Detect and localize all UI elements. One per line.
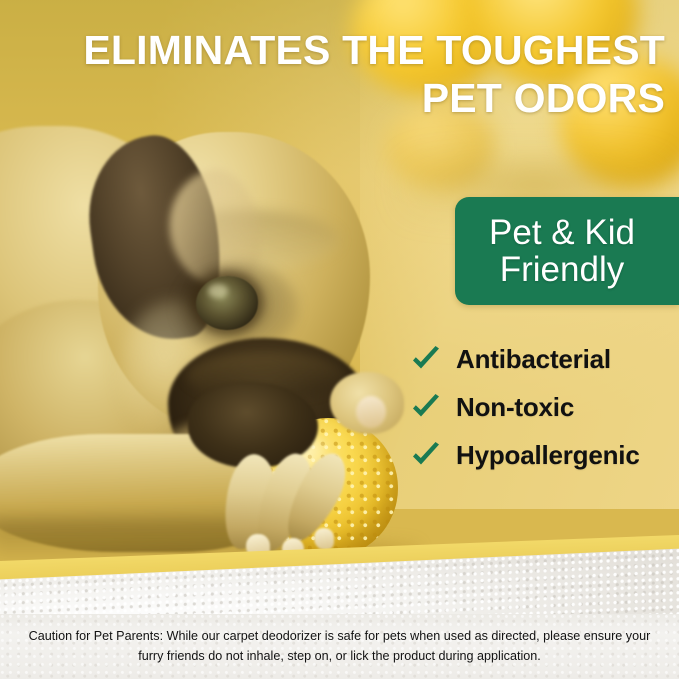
check-icon: [410, 439, 442, 471]
check-icon: [410, 343, 442, 375]
dog-toe-nail: [314, 528, 334, 550]
feature-list: Antibacterial Non-toxic Hypoallergenic: [410, 335, 673, 479]
caution-text: Caution for Pet Parents: While our carpe…: [0, 627, 679, 667]
status-badge: Pet & Kid Friendly: [455, 197, 679, 305]
dog-eye-shine: [208, 284, 228, 298]
list-item: Antibacterial: [410, 335, 673, 383]
dog-eye: [196, 276, 258, 330]
list-item: Hypoallergenic: [410, 431, 673, 479]
badge-label: Pet & Kid Friendly: [489, 214, 635, 288]
feature-label: Non-toxic: [456, 392, 574, 423]
list-item: Non-toxic: [410, 383, 673, 431]
marketing-banner: ELIMINATES THE TOUGHEST PET ODORS Pet & …: [0, 0, 679, 679]
page-title: ELIMINATES THE TOUGHEST PET ODORS: [0, 26, 665, 123]
check-icon: [410, 391, 442, 423]
feature-label: Hypoallergenic: [456, 440, 640, 471]
feature-label: Antibacterial: [456, 344, 611, 375]
dog-rear-paw-toe: [356, 396, 386, 428]
